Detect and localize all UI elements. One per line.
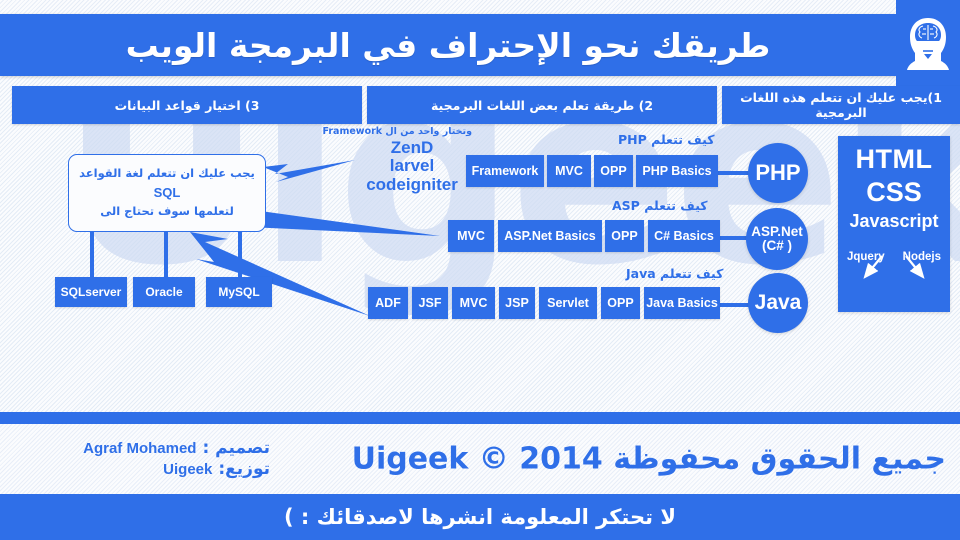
framework-note-heading: وتختار واحد من ال Framework <box>334 126 472 137</box>
track-label-asp: كيف تتعلم ASP <box>612 198 708 213</box>
java-step-mvc[interactable]: MVC <box>452 287 495 319</box>
sql-panel-line-2: SQL <box>154 183 181 203</box>
asp-target-circle[interactable]: ASP.Net (C# ) <box>746 208 808 270</box>
framework-option-larvel: larvel <box>352 157 472 175</box>
java-target-label: Java <box>755 292 802 314</box>
distribute-credit-value: Uigeek <box>163 461 212 480</box>
title-bar: طريقك نحو الإحتراف في البرمجة الويب <box>0 14 896 76</box>
asp-step-csharp-basics[interactable]: C# Basics <box>648 220 720 252</box>
db-box-mysql[interactable]: MySQL <box>206 277 272 307</box>
db-box-oracle[interactable]: Oracle <box>133 277 195 307</box>
connector-oracle <box>164 232 168 277</box>
sql-panel-line-1: يجب عليك ان تتعلم لغة القواعد <box>79 165 255 183</box>
java-step-jsf[interactable]: JSF <box>412 287 448 319</box>
top-gap <box>0 0 960 14</box>
php-target-label: PHP <box>755 161 800 184</box>
asp-step-mvc[interactable]: MVC <box>448 220 494 252</box>
asp-target-label-line1: ASP.Net <box>751 225 803 239</box>
java-step-java-basics[interactable]: Java Basics <box>644 287 720 319</box>
logo-box <box>896 0 960 90</box>
framework-option-zend: ZenD <box>352 139 472 157</box>
connector-sqlserver <box>90 232 94 277</box>
sql-panel-line-3: لتعلمها سوف تحتاج الى <box>100 203 234 221</box>
diagram-stage: يجب عليك ان تتعلم لغة القواعد SQL لتعلمه… <box>0 126 960 412</box>
framework-option-codeigniter: codeigniter <box>352 176 472 194</box>
copyright-text: جميع الحقوق محفوظة Uigeek © 2014 <box>352 442 946 477</box>
php-step-framework[interactable]: Framework <box>466 155 544 187</box>
frontend-panel: HTML CSS Javascript Jquery Nodejs <box>838 136 950 312</box>
distribute-credit-key: توزيع: <box>218 459 270 480</box>
connector-java-basics-to-java <box>718 303 750 307</box>
track-label-php: كيف تتعلم PHP <box>618 132 715 147</box>
credit-row: جميع الحقوق محفوظة Uigeek © 2014 تصميم :… <box>0 424 960 494</box>
frontend-html-label: HTML <box>856 144 933 175</box>
page-title: طريقك نحو الإحتراف في البرمجة الويب <box>126 26 771 65</box>
db-box-sqlserver[interactable]: SQLserver <box>55 277 127 307</box>
brain-head-icon <box>905 14 951 76</box>
frontend-javascript-label: Javascript <box>849 211 938 232</box>
java-step-servlet[interactable]: Servlet <box>539 287 597 319</box>
infographic-poster: Uigeek طريقك نحو الإحتراف في البرمجة الو… <box>0 0 960 540</box>
track-label-java: كيف تتعلم Java <box>626 266 723 281</box>
design-credit-line: تصميم : Agraf Mohamed <box>10 438 270 459</box>
tagline-bar: لا تحتكر المعلومة انشرها لاصدقائك : ) <box>0 494 960 540</box>
tagline-text: لا تحتكر المعلومة انشرها لاصدقائك : ) <box>284 505 676 529</box>
php-step-mvc[interactable]: MVC <box>547 155 591 187</box>
nav-bar-step-1[interactable]: 1)يجب عليك ان تتعلم هذه اللغات البرمجية <box>722 86 960 124</box>
asp-step-aspnet-basics[interactable]: ASP.Net Basics <box>498 220 602 252</box>
arrow-php-to-sql <box>263 160 355 182</box>
asp-target-label-line2: (C# ) <box>762 239 792 253</box>
java-target-circle[interactable]: Java <box>748 273 808 333</box>
design-credit-key: تصميم : <box>202 438 270 459</box>
footer-divider-strip <box>0 412 960 424</box>
nav-bar-step-2[interactable]: 2) طريقة تعلم بعض اللغات البرمجية <box>367 86 717 124</box>
distribute-credit-line: توزيع: Uigeek <box>10 459 270 480</box>
connector-mysql <box>238 232 242 277</box>
designer-credits: تصميم : Agraf Mohamed توزيع: Uigeek <box>10 438 270 481</box>
javascript-branch-arrows <box>838 254 950 280</box>
java-step-jsp[interactable]: JSP <box>499 287 535 319</box>
java-step-opp[interactable]: OPP <box>601 287 640 319</box>
php-step-php-basics[interactable]: PHP Basics <box>636 155 718 187</box>
asp-step-opp[interactable]: OPP <box>605 220 644 252</box>
framework-note: وتختار واحد من ال Framework ZenD larvel … <box>352 126 472 194</box>
nav-bar-step-3[interactable]: 3) اختيار قواعد البيانات <box>12 86 362 124</box>
nav-bars: 1)يجب عليك ان تتعلم هذه اللغات البرمجية … <box>0 86 960 124</box>
frontend-css-label: CSS <box>866 177 922 208</box>
design-credit-value: Agraf Mohamed <box>83 440 196 459</box>
sql-panel: يجب عليك ان تتعلم لغة القواعد SQL لتعلمه… <box>68 154 266 232</box>
php-step-opp[interactable]: OPP <box>594 155 633 187</box>
java-step-adf[interactable]: ADF <box>368 287 408 319</box>
php-target-circle[interactable]: PHP <box>748 143 808 203</box>
